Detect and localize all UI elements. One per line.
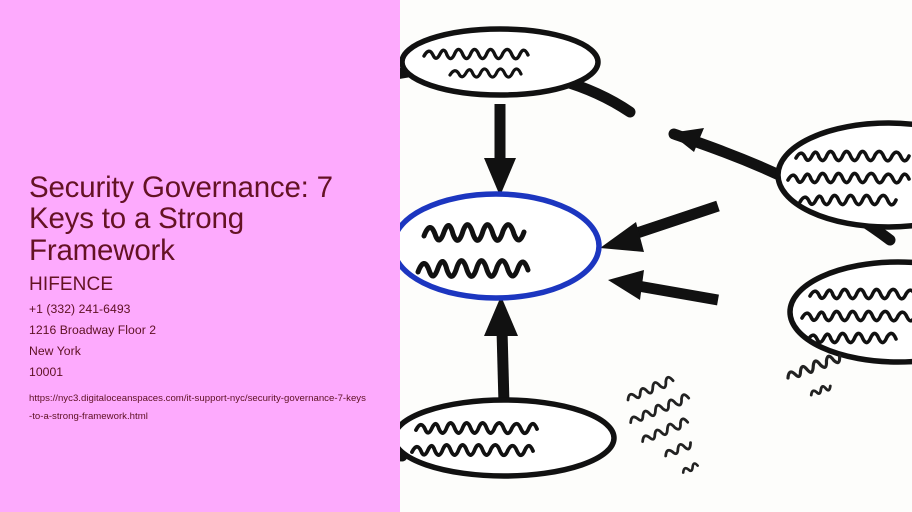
concept-diagram — [400, 0, 912, 512]
node-center-outline — [400, 194, 599, 298]
brand-name: HIFENCE — [29, 275, 369, 296]
info-panel-content: Security Governance: 7 Keys to a Strong … — [29, 172, 369, 427]
node-bottom-outline — [400, 400, 614, 476]
node-bottom — [400, 400, 614, 476]
node-center — [400, 194, 599, 298]
postal-code: 10001 — [29, 365, 369, 380]
share-card: Security Governance: 7 Keys to a Strong … — [0, 0, 912, 512]
node-top — [402, 29, 598, 95]
city: New York — [29, 344, 369, 359]
street-address: 1216 Broadway Floor 2 — [29, 323, 369, 338]
phone-number: +1 (332) 241-6493 — [29, 302, 369, 317]
page-title: Security Governance: 7 Keys to a Strong … — [29, 172, 369, 266]
source-url-link[interactable]: https://nyc3.digitaloceanspaces.com/it-s… — [29, 390, 369, 427]
info-panel: Security Governance: 7 Keys to a Strong … — [0, 0, 400, 512]
concept-diagram-svg — [400, 0, 912, 512]
